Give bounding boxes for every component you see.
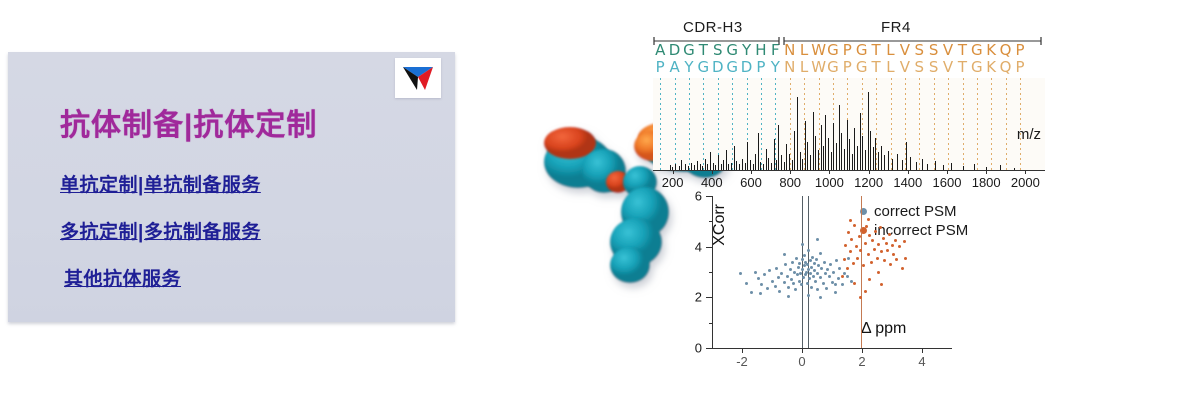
sequence-guide-line <box>991 78 992 170</box>
scatter-point <box>841 283 844 286</box>
scatter-x-axis-title: Δ ppm <box>861 320 906 338</box>
scatter-point <box>810 266 813 269</box>
scatter-point <box>859 296 862 299</box>
sequence-residue: P <box>840 59 854 76</box>
scatter-point <box>768 269 771 272</box>
spectrum-peak <box>897 154 898 170</box>
sequence-residue: T <box>955 59 969 76</box>
spectrum-peak <box>710 152 711 170</box>
scatter-point <box>844 244 847 247</box>
spectrum-peak <box>758 133 759 170</box>
scatter-point <box>819 296 822 299</box>
scatter-point <box>803 254 806 257</box>
scatter-point <box>819 252 822 255</box>
scatter-y-tick-label: 6 <box>695 189 706 204</box>
sequence-residue: S <box>711 42 725 59</box>
scatter-point <box>834 283 837 286</box>
sequence-residue: N <box>783 59 797 76</box>
spectrum-peak <box>831 152 832 170</box>
scatter-point <box>786 275 789 278</box>
legend-item-correct: correct PSM <box>860 202 968 221</box>
sequence-residue: G <box>725 42 739 59</box>
scatter-point <box>880 283 883 286</box>
scatter-y-tick-label: 4 <box>695 239 706 254</box>
promo-link-poly[interactable]: 多抗定制|多抗制备服务 <box>60 217 261 244</box>
scatter-x-tick <box>742 348 743 353</box>
sequence-residue: W <box>811 42 825 59</box>
scatter-point <box>834 291 837 294</box>
scatter-y-tick-label: 0 <box>695 341 706 356</box>
spectrum-peak <box>805 121 806 170</box>
scatter-point <box>774 285 777 288</box>
mz-tick <box>673 170 674 174</box>
sequence-row-top: ADGTSGYHFNLWGPGTLVSSVTGKQP <box>653 42 1045 59</box>
scatter-point <box>807 294 810 297</box>
spectrum-peak <box>844 149 845 170</box>
sequence-guide-line <box>761 78 762 170</box>
spectrum-peak <box>755 154 756 170</box>
scatter-point <box>798 262 801 265</box>
scatter-point <box>777 276 780 279</box>
sequence-residue: G <box>970 42 984 59</box>
sequence-residue: L <box>883 59 897 76</box>
spectrum-peak <box>857 146 858 170</box>
sequence-guide-line <box>963 78 964 170</box>
scatter-point <box>803 264 806 267</box>
sequence-residue: S <box>912 42 926 59</box>
scatter-x-tick <box>802 348 803 353</box>
sequence-guide-line <box>675 78 676 170</box>
scatter-point <box>787 295 790 298</box>
sequence-guide-line <box>934 78 935 170</box>
scatter-point <box>787 286 790 289</box>
sequence-residue: G <box>696 59 710 76</box>
spectrum-peak <box>935 161 936 170</box>
spectrum-peak <box>697 161 698 170</box>
mass-spectrum-plot: m/z <box>653 78 1045 170</box>
scatter-point <box>750 291 753 294</box>
sequence-residue: Y <box>682 59 696 76</box>
spectrum-peak <box>778 125 779 170</box>
sequence-guide-line <box>919 78 920 170</box>
scatter-point <box>816 238 819 241</box>
spectrum-peak <box>726 150 727 170</box>
scatter-point <box>819 276 822 279</box>
scatter-point <box>858 235 861 238</box>
spectrum-peak <box>750 160 751 170</box>
scatter-point <box>775 267 778 270</box>
spectrum-peak <box>841 133 842 170</box>
scatter-x-tick-label: 2 <box>858 354 865 369</box>
sequence-residue: L <box>797 59 811 76</box>
spectrum-peak <box>786 144 787 170</box>
scatter-point <box>886 249 889 252</box>
scatter-y-tick <box>706 348 712 349</box>
scatter-point <box>849 219 852 222</box>
scatter-point <box>847 231 850 234</box>
sequence-residue: P <box>754 59 768 76</box>
spectrum-peak <box>825 115 826 170</box>
spectrum-peak <box>892 159 893 170</box>
region-label-fr4: FR4 <box>881 19 911 36</box>
scatter-point <box>901 267 904 270</box>
mz-tick-label: 600 <box>740 175 762 190</box>
scatter-point <box>795 257 798 260</box>
sequence-residue: L <box>883 42 897 59</box>
scatter-point <box>888 233 891 236</box>
spectrum-peak <box>818 150 819 170</box>
scatter-y-minor-tick <box>709 221 712 222</box>
scatter-point <box>867 253 870 256</box>
scatter-point <box>882 237 885 240</box>
sequence-residue: G <box>854 59 868 76</box>
spectrum-peak <box>771 163 772 170</box>
scatter-x-tick-label: 0 <box>798 354 805 369</box>
scatter-point <box>783 253 786 256</box>
mz-tick-label: 800 <box>779 175 801 190</box>
spectrum-peak <box>862 136 863 170</box>
peptide-sequence-block: ADGTSGYHFNLWGPGTLVSSVTGKQP PAYGDGDPYNLWG… <box>653 42 1045 76</box>
scatter-point <box>849 250 852 253</box>
spectrum-peak <box>691 163 692 170</box>
scatter-y-tick <box>706 196 712 197</box>
mz-tick-label: 200 <box>662 175 684 190</box>
scatter-point <box>811 256 814 259</box>
spectrum-peak <box>836 143 837 170</box>
scatter-point <box>903 240 906 243</box>
spectrum-peak <box>902 160 903 170</box>
scatter-x-tick <box>922 348 923 353</box>
sequence-residue: T <box>869 42 883 59</box>
mz-tick-label: 1800 <box>972 175 1001 190</box>
scatter-point <box>806 282 809 285</box>
scatter-point <box>837 277 840 280</box>
spectrum-peak <box>794 131 795 170</box>
spectrum-peak <box>833 123 834 170</box>
spectrum-peak <box>910 157 911 170</box>
spectrum-peak <box>881 146 882 170</box>
spectrum-peak <box>922 159 923 170</box>
sequence-guide-line <box>1006 78 1007 170</box>
sequence-residue: S <box>926 59 940 76</box>
spectrum-peak <box>789 154 790 170</box>
sequence-residue: D <box>711 59 725 76</box>
scatter-point <box>798 280 801 283</box>
spectrum-peak <box>784 162 785 170</box>
scatter-point <box>861 229 864 232</box>
sequence-residue: G <box>682 42 696 59</box>
sequence-residue: G <box>826 42 840 59</box>
spectrum-peak <box>854 128 855 170</box>
sequence-residue: K <box>984 59 998 76</box>
sequence-guide-line <box>660 78 661 170</box>
sequence-residue: P <box>1013 42 1027 59</box>
sequence-guide-line <box>977 78 978 170</box>
spectrum-peak <box>860 113 861 170</box>
spectrum-peak <box>705 159 706 170</box>
scatter-point <box>885 242 888 245</box>
mz-tick <box>869 170 870 174</box>
spectrum-peak <box>849 139 850 170</box>
scatter-point <box>759 292 762 295</box>
sequence-residue: Y <box>768 59 782 76</box>
mz-tick-label: 2000 <box>1011 175 1040 190</box>
scatter-point <box>812 275 815 278</box>
promo-panel: 抗体制备|抗体定制 单抗定制|单抗制备服务 多抗定制|多抗制备服务 其他抗体服务 <box>8 52 455 322</box>
sequence-residue: K <box>984 42 998 59</box>
sequence-residue: V <box>898 42 912 59</box>
spectrum-peak <box>884 155 885 170</box>
scatter-point <box>877 271 880 274</box>
scatter-point <box>864 242 867 245</box>
scatter-point <box>807 249 810 252</box>
spectrum-peak <box>768 158 769 170</box>
spectrum-peak <box>828 138 829 171</box>
sequence-residue: S <box>926 42 940 59</box>
scatter-point <box>859 249 862 252</box>
scatter-point <box>855 245 858 248</box>
sequence-residue: P <box>1013 59 1027 76</box>
scatter-point <box>754 271 757 274</box>
scatter-point <box>763 273 766 276</box>
sequence-guide-line <box>948 78 949 170</box>
scatter-point <box>801 243 804 246</box>
scatter-point <box>789 268 792 271</box>
spectrum-peak <box>847 120 848 170</box>
scatter-x-tick-label: 4 <box>918 354 925 369</box>
sequence-residue: F <box>768 42 782 59</box>
scatter-point <box>853 282 856 285</box>
sequence-residue: N <box>783 42 797 59</box>
spectrum-peak <box>731 163 732 170</box>
scatter-point <box>815 258 818 261</box>
scatter-y-axis-title: XCorr <box>711 204 729 246</box>
scatter-point <box>843 258 846 261</box>
scatter-point <box>867 218 870 221</box>
spectrum-peak <box>802 159 803 170</box>
spectrum-peak <box>776 160 777 170</box>
scatter-point <box>805 271 808 274</box>
sequence-guide-line <box>703 78 704 170</box>
spectrum-peak <box>800 152 801 170</box>
spectrum-peak <box>760 162 761 170</box>
scatter-point <box>783 281 786 284</box>
scatter-point <box>766 287 769 290</box>
scatter-point <box>790 278 793 281</box>
spectrum-peak <box>839 105 840 170</box>
scatter-point <box>883 259 886 262</box>
spectrum-peak <box>888 151 889 171</box>
spectrum-peak <box>916 162 917 170</box>
spectrum-peak <box>774 139 775 170</box>
scatter-point <box>780 272 783 275</box>
mz-tick <box>712 170 713 174</box>
scatter-point <box>889 263 892 266</box>
sequence-residue: Q <box>998 59 1012 76</box>
spectrum-peak <box>807 142 808 170</box>
scatter-point <box>801 258 804 261</box>
scatter-point <box>850 238 853 241</box>
sequence-residue: G <box>826 59 840 76</box>
scatter-point <box>835 259 838 262</box>
scatter-point <box>792 282 795 285</box>
scatter-point <box>823 261 826 264</box>
scatter-threshold-line <box>802 196 803 348</box>
sequence-residue: Q <box>998 42 1012 59</box>
mz-tick <box>986 170 987 174</box>
spectrum-peak <box>734 146 735 170</box>
spectrum-peak <box>766 149 767 170</box>
sequence-residue: P <box>653 59 667 76</box>
scatter-y-tick <box>706 247 712 248</box>
scatter-point <box>828 275 831 278</box>
page-root: 抗体制备|抗体定制 单抗定制|单抗制备服务 多抗定制|多抗制备服务 其他抗体服务 <box>0 0 1200 400</box>
spectrum-peak <box>745 163 746 170</box>
scatter-point <box>771 280 774 283</box>
scatter-point <box>880 250 883 253</box>
spectrum-peak <box>951 163 952 170</box>
scatter-point <box>816 288 819 291</box>
sequence-residue: G <box>970 59 984 76</box>
spectrum-peak <box>878 152 879 170</box>
spectrum-peak <box>718 155 719 170</box>
mz-tick <box>790 170 791 174</box>
scatter-y-tick <box>706 297 712 298</box>
scatter-point <box>814 280 817 283</box>
scatter-point <box>829 263 832 266</box>
scatter-y-minor-tick <box>709 323 712 324</box>
scatter-point <box>816 272 819 275</box>
scatter-point <box>898 245 901 248</box>
sequence-guide-line <box>891 78 892 170</box>
spectrum-peak <box>868 92 869 170</box>
sequence-residue: L <box>797 42 811 59</box>
company-logo-icon <box>395 58 441 98</box>
spectrum-peak <box>810 155 811 170</box>
legend-label-incorrect: incorrect PSM <box>874 222 968 239</box>
scatter-point <box>757 277 760 280</box>
spectrum-peak <box>870 131 871 170</box>
scatter-point <box>745 282 748 285</box>
scatter-point <box>876 257 879 260</box>
sequence-residue: P <box>840 42 854 59</box>
legend-label-correct: correct PSM <box>874 203 957 220</box>
spectrum-peak <box>742 159 743 170</box>
mz-tick <box>947 170 948 174</box>
scatter-point <box>799 272 802 275</box>
scatter-point <box>862 264 865 267</box>
scatter-point <box>791 261 794 264</box>
scatter-point <box>894 239 897 242</box>
spectrum-peak <box>852 154 853 170</box>
sequence-residue: A <box>667 59 681 76</box>
scatter-point <box>826 268 829 271</box>
spectrum-peak <box>713 163 714 170</box>
spectrum-peak <box>873 147 874 170</box>
scatter-point <box>838 267 841 270</box>
sequence-guide-line <box>775 78 776 170</box>
spectrum-peak <box>736 161 737 170</box>
scatter-point <box>820 267 823 270</box>
scatter-point <box>877 243 880 246</box>
spectrum-peak <box>681 160 682 170</box>
spectrum-peak <box>792 160 793 170</box>
scatter-point <box>852 262 855 265</box>
sequence-residue: D <box>739 59 753 76</box>
mz-tick <box>829 170 830 174</box>
scatter-point <box>853 224 856 227</box>
sequence-residue: D <box>667 42 681 59</box>
scatter-point <box>813 262 816 265</box>
scatter-point <box>895 258 898 261</box>
promo-link-other[interactable]: 其他抗体服务 <box>64 264 181 291</box>
scatter-point <box>856 257 859 260</box>
scatter-legend: correct PSM incorrect PSM <box>860 202 968 240</box>
sequence-residue: G <box>725 59 739 76</box>
sequence-residue: S <box>912 59 926 76</box>
scatter-point <box>822 282 825 285</box>
mz-tick <box>908 170 909 174</box>
scatter-point <box>868 278 871 281</box>
scatter-point <box>808 277 811 280</box>
mz-tick <box>751 170 752 174</box>
spectrum-peak <box>747 142 748 170</box>
spectrum-peak <box>723 160 724 170</box>
spectrum-peak <box>823 146 824 170</box>
scatter-point <box>832 271 835 274</box>
scatter-point <box>825 287 828 290</box>
mz-tick-label: 1000 <box>815 175 844 190</box>
scatter-x-tick <box>862 348 863 353</box>
sequence-residue: W <box>811 59 825 76</box>
sequence-region-bar: CDR-H3 FR4 <box>653 21 1042 43</box>
promo-link-mono[interactable]: 单抗定制|单抗制备服务 <box>60 170 261 197</box>
mz-tick-label: 1400 <box>893 175 922 190</box>
spectrum-peak <box>815 136 816 170</box>
sequence-row-bottom: PAYGDGDPYNLWGPGTLVSSVTGKQP <box>653 59 1045 76</box>
sequence-residue: G <box>854 42 868 59</box>
sequence-residue: V <box>898 59 912 76</box>
sequence-residue: H <box>754 42 768 59</box>
scatter-y-tick-label: 2 <box>695 290 706 305</box>
scatter-point <box>846 267 849 270</box>
sequence-residue: T <box>696 42 710 59</box>
scatter-threshold-line <box>861 196 862 348</box>
scatter-point <box>846 275 849 278</box>
scatter-point <box>841 275 844 278</box>
scatter-point <box>870 261 873 264</box>
sequence-residue: T <box>955 42 969 59</box>
scatter-point <box>760 283 763 286</box>
scatter-x-tick-label: -2 <box>736 354 748 369</box>
mz-tick-label: 1600 <box>933 175 962 190</box>
mz-tick <box>1025 170 1026 174</box>
scatter-point <box>739 272 742 275</box>
scatter-point <box>891 244 894 247</box>
scatter-point <box>784 263 787 266</box>
scatter-point <box>794 288 797 291</box>
spectrum-peak <box>875 138 876 171</box>
spectrum-peak <box>821 125 822 170</box>
page-title: 抗体制备|抗体定制 <box>60 100 317 144</box>
psm-scatter-plot: XCorr Δ ppm correct PSM incorrect PSM 02… <box>685 196 955 356</box>
sequence-residue: Y <box>739 42 753 59</box>
spectrum-peak <box>906 142 907 170</box>
scatter-point <box>847 257 850 260</box>
region-label-cdr-h3: CDR-H3 <box>683 19 743 36</box>
scatter-point <box>797 266 800 269</box>
scatter-point <box>824 272 827 275</box>
